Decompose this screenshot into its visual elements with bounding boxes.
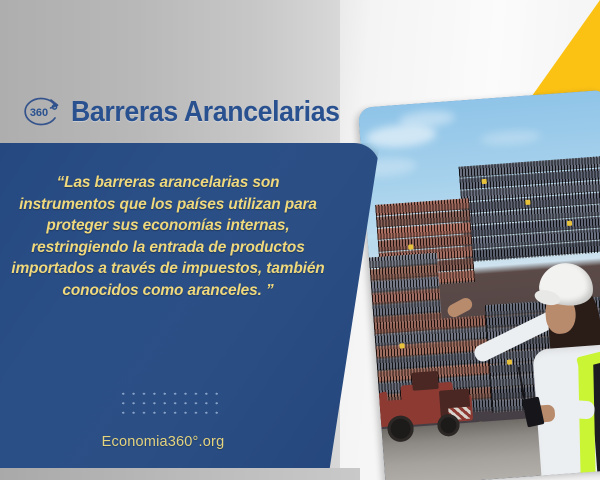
logo-360-icon: 360 bbox=[18, 92, 64, 132]
dock-worker-figure bbox=[499, 267, 600, 480]
container-placard bbox=[408, 244, 413, 249]
container-placard bbox=[482, 179, 487, 184]
banner-canvas: 360 Barreras Arancelarias “Las barreras … bbox=[0, 0, 600, 480]
quote-text: “Las barreras arancelarias son instrumen… bbox=[8, 172, 328, 301]
port-photo bbox=[358, 90, 600, 480]
container-placard bbox=[525, 200, 530, 205]
brand-header: 360 Barreras Arancelarias bbox=[18, 92, 363, 132]
container-placard bbox=[567, 221, 572, 226]
bottom-strip bbox=[0, 468, 360, 480]
radio-antenna bbox=[518, 367, 526, 401]
reach-stacker-vehicle bbox=[372, 371, 497, 456]
dot-grid-decoration bbox=[118, 389, 220, 415]
container-stack bbox=[459, 156, 600, 263]
container-placard bbox=[399, 343, 404, 348]
page-title: Barreras Arancelarias bbox=[71, 96, 340, 129]
svg-text:360: 360 bbox=[30, 107, 48, 119]
website-label: Economia360°.org bbox=[8, 434, 318, 450]
